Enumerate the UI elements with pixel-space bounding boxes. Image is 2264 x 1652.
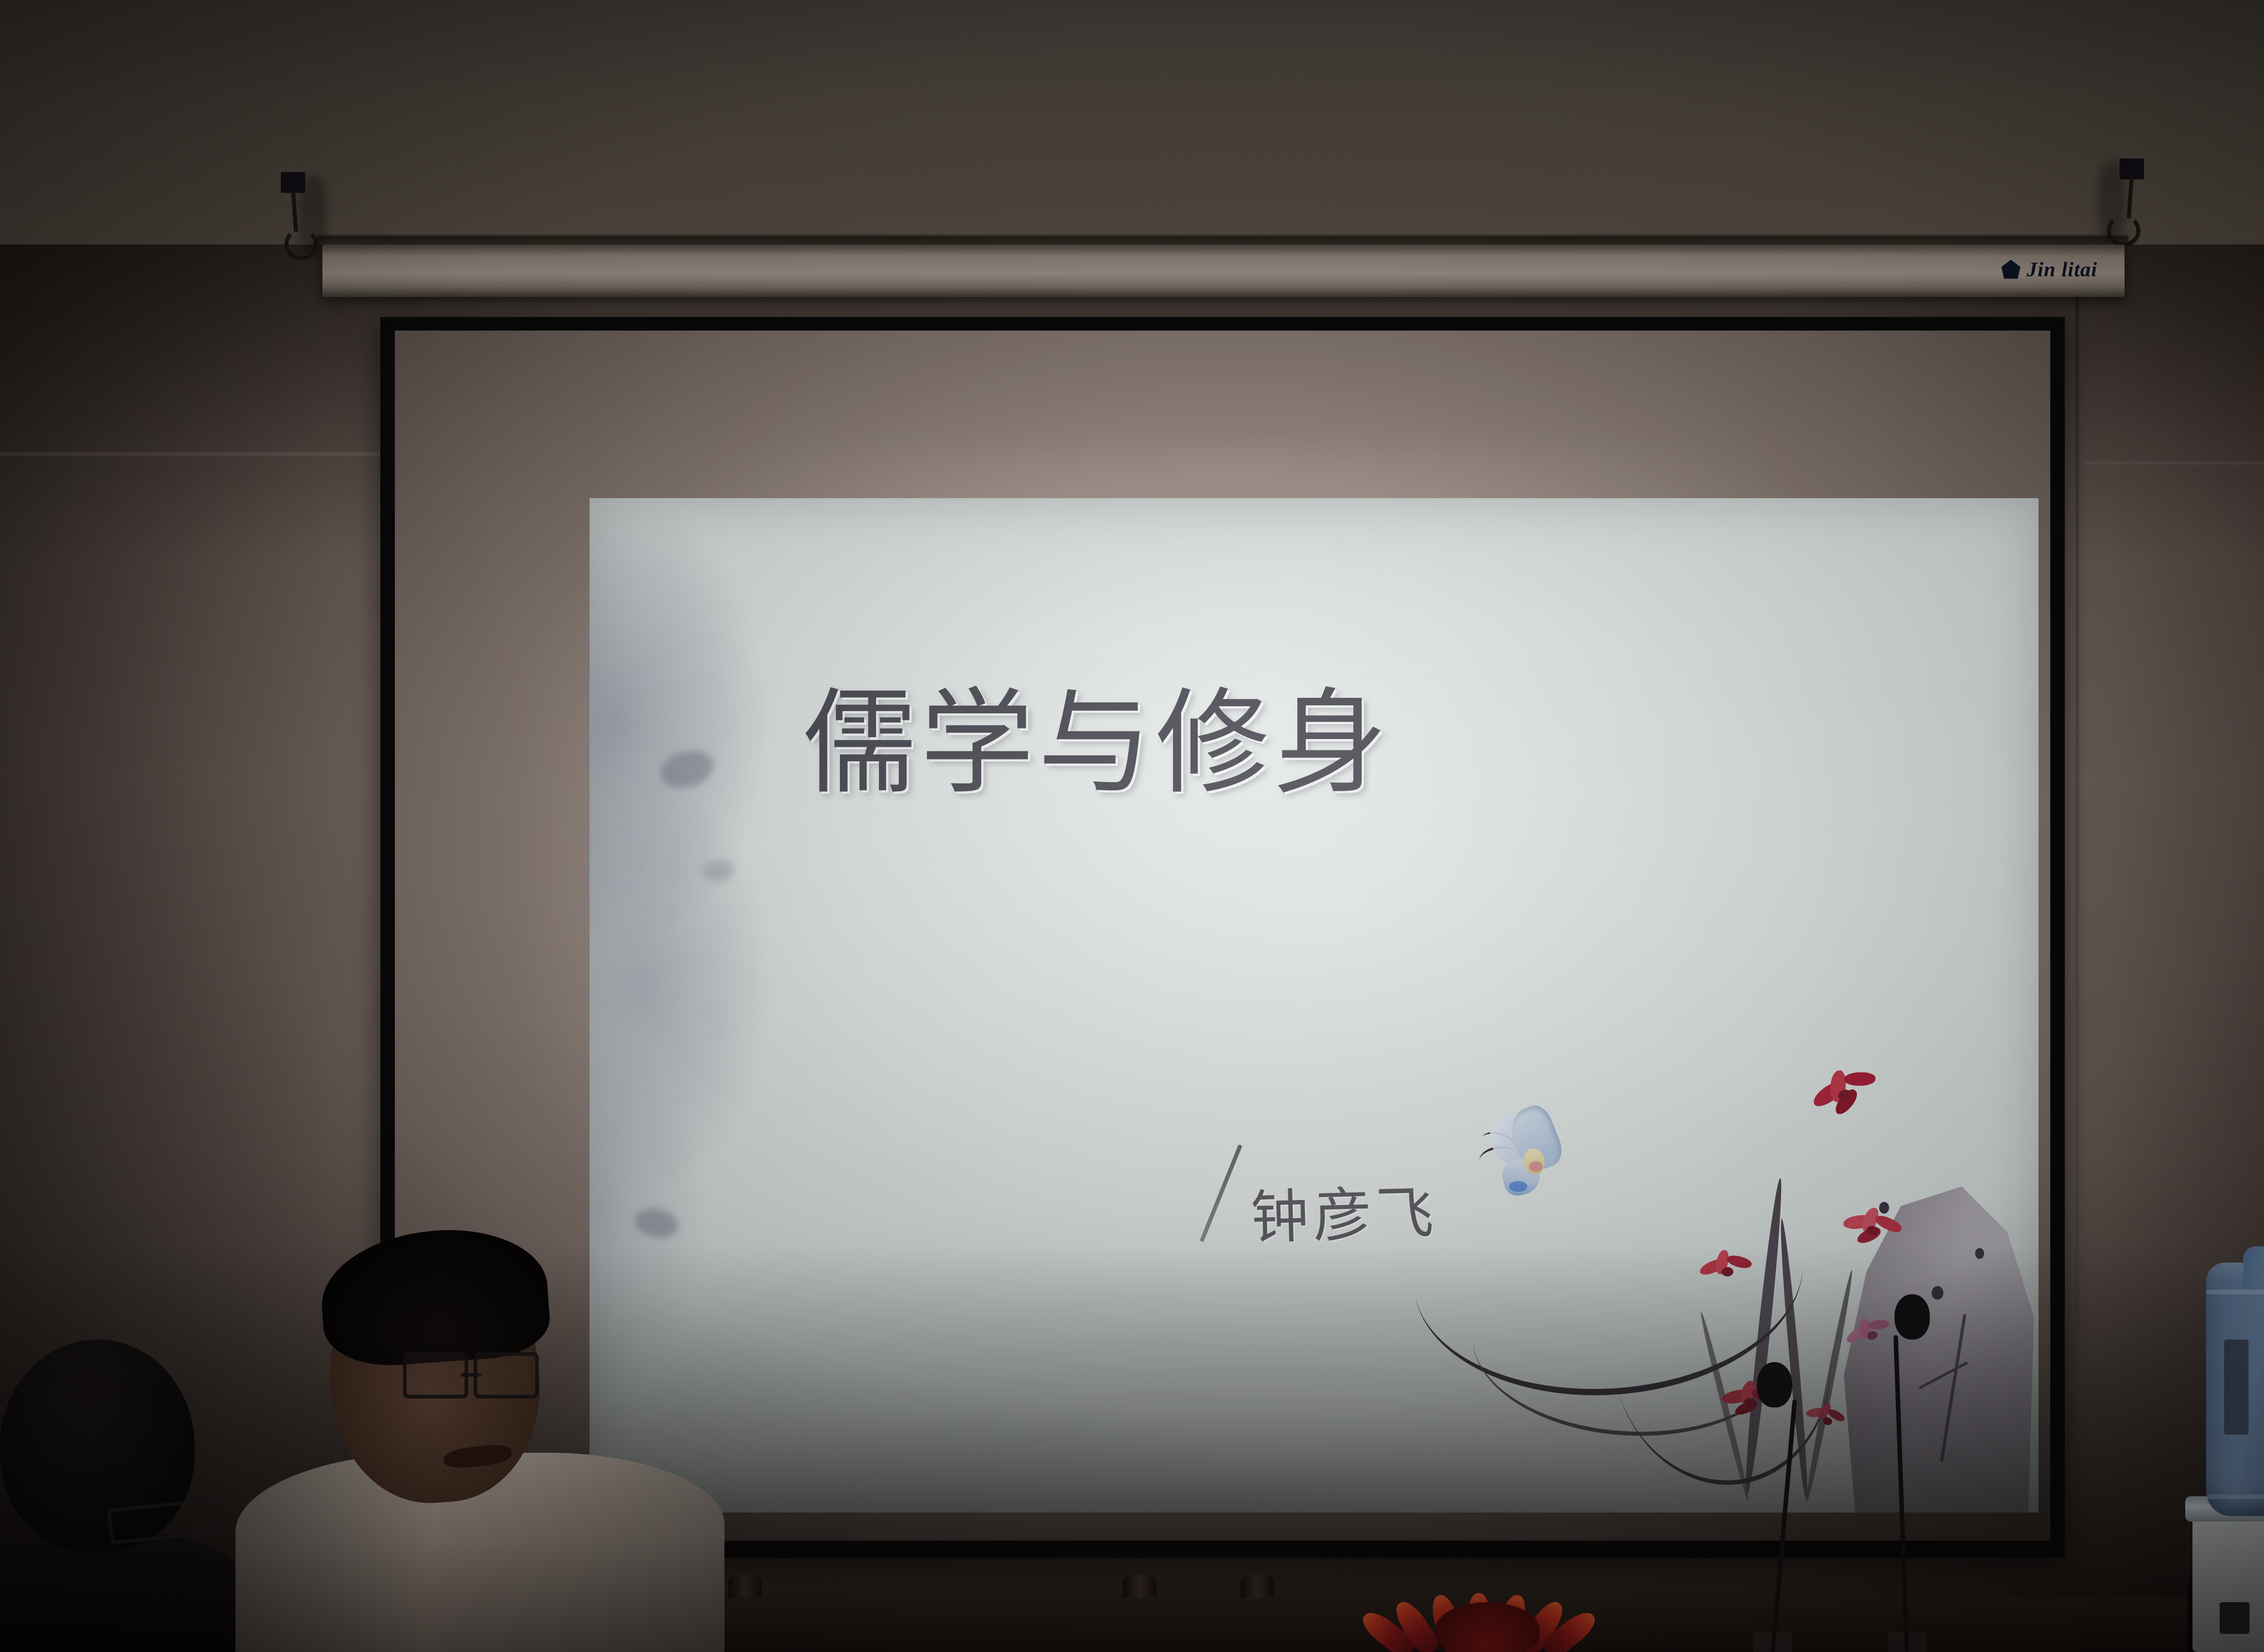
wall-corner-line [2076,245,2078,1331]
screen-brand: Jin litai [2001,257,2097,281]
red-chrysanthemum [1386,1566,1585,1652]
brand-label: Jin litai [2027,257,2097,281]
water-bottle-neck [2243,1246,2264,1290]
water-dispenser [2188,1199,2264,1652]
water-tap[interactable] [2220,1602,2250,1634]
glasses-icon [403,1357,539,1398]
speaker-foreground [254,1199,706,1652]
glasses-lens [403,1352,468,1398]
bottle-rib [2206,1290,2264,1294]
screen-mount-right [2090,158,2144,245]
wall-seam-right [2083,462,2264,464]
bracket-ring-icon [284,228,318,260]
person-hair [317,1223,552,1370]
ceiling-texture [0,0,2264,254]
room-photo: Jin litai [0,0,2264,1652]
bracket-arm [291,190,298,232]
pentagon-shield-icon [2001,260,2020,279]
bracket-plate-icon [2120,158,2144,179]
bottle-label [2224,1340,2249,1435]
screen-roller-housing: Jin litai [322,245,2125,297]
flower-center [1435,1602,1540,1652]
glasses-lens [474,1352,539,1398]
bracket-arm [2127,177,2134,218]
ceiling [0,0,2264,254]
bottle-rib [2206,1494,2264,1499]
attendee-left-back [0,1335,254,1652]
microphone-head-icon [1895,1294,1930,1340]
microphone-head-icon [1757,1362,1792,1407]
